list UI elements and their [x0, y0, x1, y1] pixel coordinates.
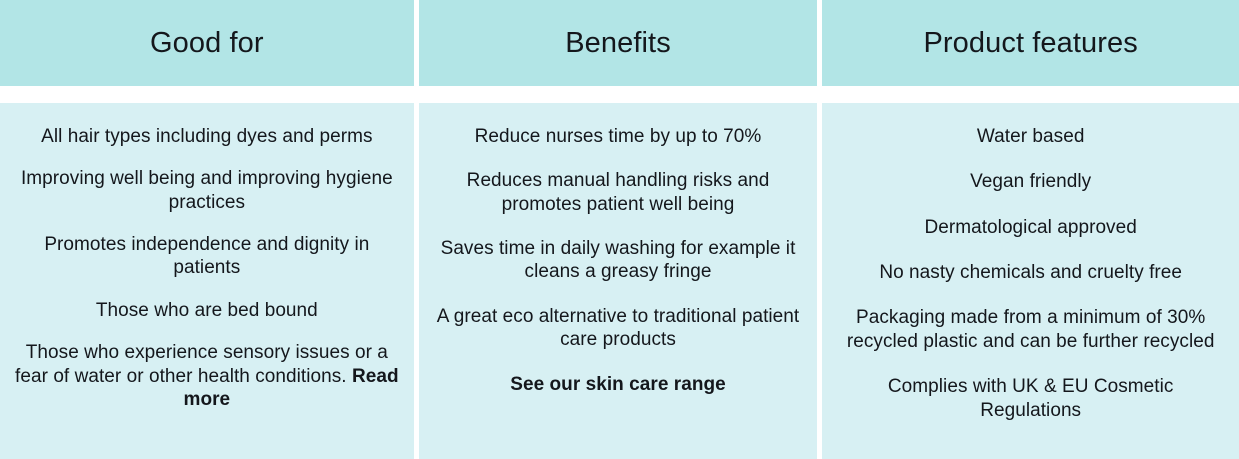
list-item: Reduces manual handling risks and promot… — [433, 169, 804, 216]
column-body-good-for: All hair types including dyes and perms … — [0, 103, 414, 459]
column-header-label: Product features — [923, 26, 1137, 61]
column-header-benefits: Benefits — [419, 0, 818, 86]
list-item: Packaging made from a minimum of 30% rec… — [836, 306, 1225, 353]
list-item: Those who are bed bound — [14, 299, 400, 322]
list-item: Saves time in daily washing for example … — [433, 237, 804, 284]
table-header-row: Good for Benefits Product features — [0, 0, 1239, 86]
column-body-benefits: Reduce nurses time by up to 70% Reduces … — [419, 103, 818, 459]
list-item: Water based — [836, 125, 1225, 148]
list-item: Vegan friendly — [836, 170, 1225, 193]
band-separator — [0, 86, 1239, 103]
table-body-row: All hair types including dyes and perms … — [0, 103, 1239, 459]
column-header-label: Good for — [150, 26, 264, 61]
list-item: Those who experience sensory issues or a… — [14, 341, 400, 411]
list-item: Promotes independence and dignity in pat… — [14, 233, 400, 280]
list-item: All hair types including dyes and perms — [14, 125, 400, 148]
skin-care-range-link[interactable]: See our skin care range — [433, 373, 804, 396]
column-header-label: Benefits — [565, 26, 671, 61]
column-body-product-features: Water based Vegan friendly Dermatologica… — [822, 103, 1239, 459]
list-item: No nasty chemicals and cruelty free — [836, 261, 1225, 284]
list-item: Complies with UK & EU Cosmetic Regulatio… — [836, 375, 1225, 422]
list-item: A great eco alternative to traditional p… — [433, 305, 804, 352]
list-item: Reduce nurses time by up to 70% — [433, 125, 804, 148]
list-item-text: Those who experience sensory issues or a… — [15, 342, 388, 386]
list-item: Dermatological approved — [836, 216, 1225, 239]
list-item: Improving well being and improving hygie… — [14, 167, 400, 214]
column-header-good-for: Good for — [0, 0, 414, 86]
column-header-product-features: Product features — [822, 0, 1239, 86]
comparison-table: Good for Benefits Product features All h… — [0, 0, 1239, 459]
